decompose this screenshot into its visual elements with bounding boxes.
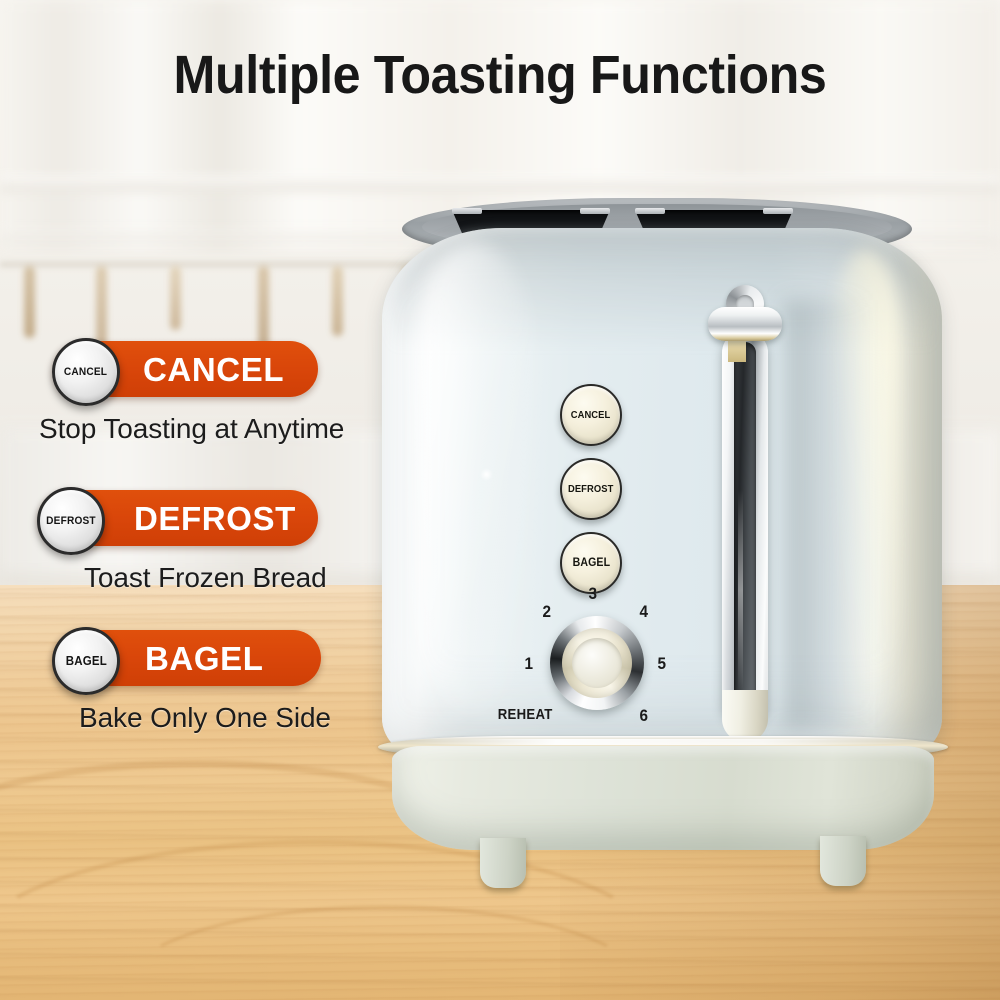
callout-defrost-label: DEFROST	[134, 502, 296, 535]
toaster-product-image: CANCEL DEFROST BAGEL 1 2 3 4 5 6 REHEAT	[330, 190, 1000, 870]
defrost-chip-label: DEFROST	[46, 515, 96, 527]
cancel-button-chip-icon[interactable]: CANCEL	[52, 338, 120, 406]
toaster-foot-left	[480, 838, 526, 888]
callout-defrost-caption: Toast Frozen Bread	[84, 562, 327, 594]
toaster-foot-right	[820, 836, 866, 886]
lever-bottom-tip	[722, 690, 768, 742]
cancel-chip-label: CANCEL	[64, 366, 107, 378]
toaster-chrome-trim-highlight	[400, 739, 920, 745]
lever-knob-cap[interactable]	[708, 307, 782, 341]
background-utensil	[24, 266, 35, 338]
bagel-button-chip-icon[interactable]: BAGEL	[52, 627, 120, 695]
callout-cancel-caption: Stop Toasting at Anytime	[39, 413, 344, 445]
product-feature-image: Multiple Toasting Functions CANCEL DEFRO…	[0, 0, 1000, 1000]
callout-bagel-caption: Bake Only One Side	[79, 702, 331, 734]
background-utensil	[170, 266, 181, 330]
callout-cancel: CANCEL CANCEL Stop Toasting at Anytime	[53, 341, 373, 451]
callout-defrost: DEFROST DEFROST Toast Frozen Bread	[38, 490, 368, 600]
defrost-button-chip-icon[interactable]: DEFROST	[37, 487, 105, 555]
page-title: Multiple Toasting Functions	[35, 44, 965, 106]
lever-slot-highlight	[738, 490, 743, 690]
callout-bagel-label: BAGEL	[145, 642, 264, 675]
bagel-chip-label: BAGEL	[65, 654, 106, 668]
callout-bagel: BAGEL BAGEL Bake Only One Side	[53, 630, 383, 740]
lever-gold-accent	[728, 338, 746, 362]
toaster-base	[392, 746, 934, 850]
callout-cancel-label: CANCEL	[143, 353, 284, 386]
